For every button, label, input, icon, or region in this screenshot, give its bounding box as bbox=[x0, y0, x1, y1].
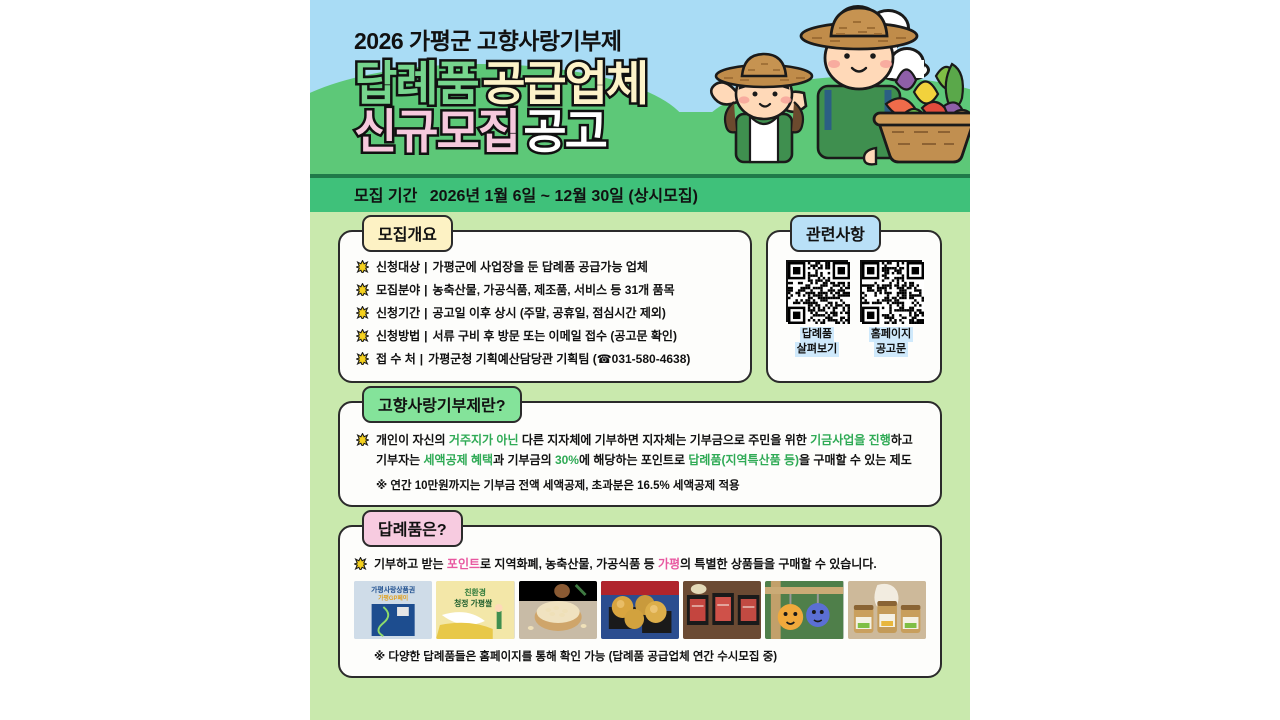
overview-item-value: 농축산물, 가공식품, 제조품, 서비스 등 31개 품목 bbox=[433, 281, 675, 298]
star-bullet-icon bbox=[356, 260, 369, 273]
qr-caption-line-1: 답례품 bbox=[800, 327, 834, 342]
beef-packs bbox=[683, 581, 761, 639]
title-word-4: 공고 bbox=[523, 108, 605, 155]
overview-item-key: 신청방법 bbox=[376, 327, 420, 344]
overview-item: 모집분야|농축산물, 가공식품, 제조품, 서비스 등 31개 품목 bbox=[356, 281, 736, 298]
title-eyebrow: 2026 가평군 고향사랑기부제 bbox=[354, 22, 647, 56]
overview-item: 신청방법|서류 구비 후 방문 또는 이메일 접수 (공고문 확인) bbox=[356, 327, 736, 344]
overview-item-separator: | bbox=[424, 283, 427, 297]
qr-code-caption: 답례품살펴보기 bbox=[786, 327, 848, 357]
overview-card: 모집개요 신청대상|가평군에 사업장을 둔 답례품 공급가능 업체모집분야|농축… bbox=[338, 230, 752, 383]
overview-list: 신청대상|가평군에 사업장을 둔 답례품 공급가능 업체모집분야|농축산물, 가… bbox=[356, 258, 736, 367]
related-card: 관련사항 답례품살펴보기홈페이지공고문 bbox=[766, 230, 942, 383]
star-bullet-icon bbox=[356, 352, 369, 365]
qr-code-image[interactable] bbox=[786, 260, 848, 322]
overview-item-separator: | bbox=[424, 306, 427, 320]
poster-header: 2026 가평군 고향사랑기부제 답례품 공급업체 신규모집 공고 모집 기간 … bbox=[310, 0, 970, 212]
title-word-2: 공급업체 bbox=[482, 60, 647, 107]
overview-item-value: 가평군청 기획예산담당관 기획팀 (☎031-580-4638) bbox=[428, 350, 690, 367]
screenshot-root: 2026 가평군 고향사랑기부제 답례품 공급업체 신규모집 공고 모집 기간 … bbox=[0, 0, 1280, 720]
gift-lead: 기부하고 받는 포인트로 지역화폐, 농축산물, 가공식품 등 가평의 특별한 … bbox=[354, 555, 926, 572]
related-badge: 관련사항 bbox=[790, 215, 881, 252]
pine-nuts-bowl bbox=[519, 581, 597, 639]
star-bullet-icon bbox=[356, 306, 369, 319]
explain-badge: 고향사랑기부제란? bbox=[362, 386, 522, 423]
svg-text:가평GP페이: 가평GP페이 bbox=[378, 594, 408, 602]
qr-caption-line-2: 공고문 bbox=[874, 342, 908, 357]
svg-text:가평사랑상품권: 가평사랑상품권 bbox=[371, 585, 415, 594]
top-row: 모집개요 신청대상|가평군에 사업장을 둔 답례품 공급가능 업체모집분야|농축… bbox=[338, 230, 942, 383]
overview-item-value: 공고일 이후 상시 (주말, 공휴일, 점심시간 제외) bbox=[433, 304, 666, 321]
honey-jars bbox=[848, 581, 926, 639]
qr-row: 답례품살펴보기홈페이지공고문 bbox=[778, 260, 930, 357]
period-label: 모집 기간 bbox=[354, 188, 417, 205]
title-word-3: 신규모집 bbox=[354, 108, 519, 155]
title-line-1: 답례품 공급업체 bbox=[354, 60, 647, 107]
qr-code-block[interactable]: 홈페이지공고문 bbox=[860, 260, 922, 357]
gift-thumbnails: 가평사랑상품권가평GP페이친환경청정 가평쌀 bbox=[354, 581, 926, 639]
overview-item: 신청기간|공고일 이후 상시 (주말, 공휴일, 점심시간 제외) bbox=[356, 304, 736, 321]
gift-badge: 답례품은? bbox=[362, 510, 463, 547]
star-bullet-icon bbox=[354, 557, 367, 570]
title-word-1: 답례품 bbox=[354, 60, 478, 107]
gapyeong-love-gift-certificate: 가평사랑상품권가평GP페이 bbox=[354, 581, 432, 639]
period-value: 2026년 1월 6일 ~ 12월 30일 (상시모집) bbox=[430, 188, 698, 205]
svg-text:친환경: 친환경 bbox=[465, 587, 487, 597]
qr-caption-line-2: 살펴보기 bbox=[795, 342, 839, 357]
gift-note: ※ 다양한 답례품들은 홈페이지를 통해 확인 가능 (답례품 공급업체 연간 … bbox=[354, 648, 926, 664]
star-bullet-icon bbox=[356, 329, 369, 342]
overview-item-key: 접 수 처 bbox=[376, 350, 416, 367]
poster-body: 모집개요 신청대상|가평군에 사업장을 둔 답례품 공급가능 업체모집분야|농축… bbox=[310, 212, 970, 678]
explain-text: 개인이 자신의 거주지가 아닌 다른 지자체에 기부하면 지자체는 기부금으로 … bbox=[376, 431, 924, 471]
poster-title-block: 2026 가평군 고향사랑기부제 답례품 공급업체 신규모집 공고 bbox=[354, 22, 647, 156]
qr-caption-line-1: 홈페이지 bbox=[869, 327, 913, 342]
overview-item-key: 모집분야 bbox=[376, 281, 420, 298]
explain-paragraph: 개인이 자신의 거주지가 아닌 다른 지자체에 기부하면 지자체는 기부금으로 … bbox=[356, 431, 924, 471]
overview-item-separator: | bbox=[420, 352, 423, 366]
qr-code-block[interactable]: 답례품살펴보기 bbox=[786, 260, 848, 357]
overview-item-key: 신청기간 bbox=[376, 304, 420, 321]
farmer-characters-illustration bbox=[700, 0, 970, 178]
farmer-girl-icon bbox=[711, 54, 812, 162]
overview-item: 신청대상|가평군에 사업장을 둔 답례품 공급가능 업체 bbox=[356, 258, 736, 275]
overview-item-value: 서류 구비 후 방문 또는 이메일 접수 (공고문 확인) bbox=[433, 327, 677, 344]
star-bullet-icon bbox=[356, 283, 369, 296]
svg-text:청정 가평쌀: 청정 가평쌀 bbox=[454, 598, 493, 608]
qr-code-image bbox=[788, 262, 850, 324]
qr-code-image[interactable] bbox=[860, 260, 922, 322]
explain-note: ※ 연간 10만원까지는 기부금 전액 세액공제, 초과분은 16.5% 세액공… bbox=[356, 477, 924, 493]
overview-item-separator: | bbox=[424, 260, 427, 274]
star-bullet-icon bbox=[356, 433, 369, 446]
overview-item-key: 신청대상 bbox=[376, 258, 420, 275]
overview-item-value: 가평군에 사업장을 둔 답례품 공급가능 업체 bbox=[433, 258, 648, 275]
overview-item: 접 수 처|가평군청 기획예산담당관 기획팀 (☎031-580-4638) bbox=[356, 350, 736, 367]
character-keychains bbox=[765, 581, 843, 639]
explain-card: 고향사랑기부제란? 개인이 자신의 거주지가 아닌 다른 지자체에 기부하면 지… bbox=[338, 401, 942, 507]
poster: 2026 가평군 고향사랑기부제 답례품 공급업체 신규모집 공고 모집 기간 … bbox=[310, 0, 970, 720]
overview-item-separator: | bbox=[424, 329, 427, 343]
qr-code-image bbox=[862, 262, 924, 324]
overview-badge: 모집개요 bbox=[362, 215, 453, 252]
glazed-pastry-set bbox=[601, 581, 679, 639]
eco-friendly-rice-package: 친환경청정 가평쌀 bbox=[436, 581, 514, 639]
title-line-2: 신규모집 공고 bbox=[354, 108, 647, 155]
gift-card: 답례품은? 기부하고 받는 포인트로 지역화폐, 농축산물, 가공식품 등 가평… bbox=[338, 525, 942, 678]
recruitment-period: 모집 기간 2026년 1월 6일 ~ 12월 30일 (상시모집) bbox=[354, 182, 698, 206]
qr-code-caption: 홈페이지공고문 bbox=[860, 327, 922, 357]
gift-lead-text: 기부하고 받는 포인트로 지역화폐, 농축산물, 가공식품 등 가평의 특별한 … bbox=[374, 555, 926, 572]
